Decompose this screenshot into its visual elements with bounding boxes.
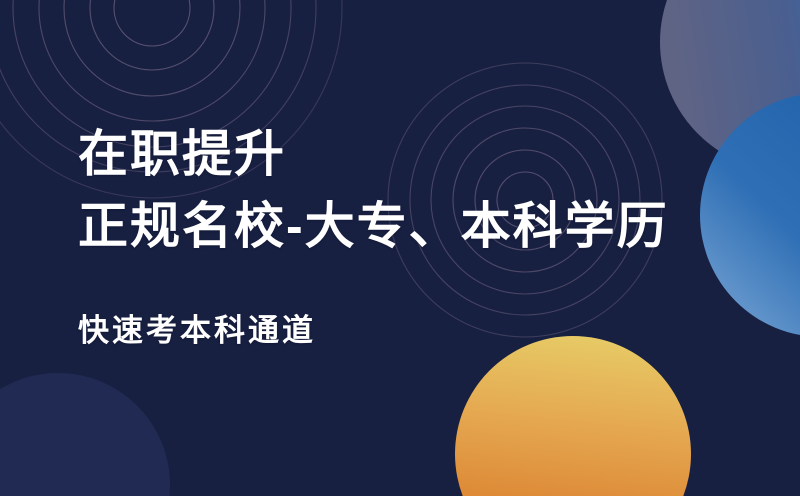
promo-banner: 在职提升 正规名校-大专、本科学历 快速考本科通道 [0, 0, 800, 496]
headline-line-2: 正规名校-大专、本科学历 [78, 190, 669, 262]
headline-block: 在职提升 正规名校-大专、本科学历 [78, 118, 669, 262]
headline-line-1: 在职提升 [78, 118, 669, 190]
subheadline-text: 快速考本科通道 [78, 308, 316, 354]
